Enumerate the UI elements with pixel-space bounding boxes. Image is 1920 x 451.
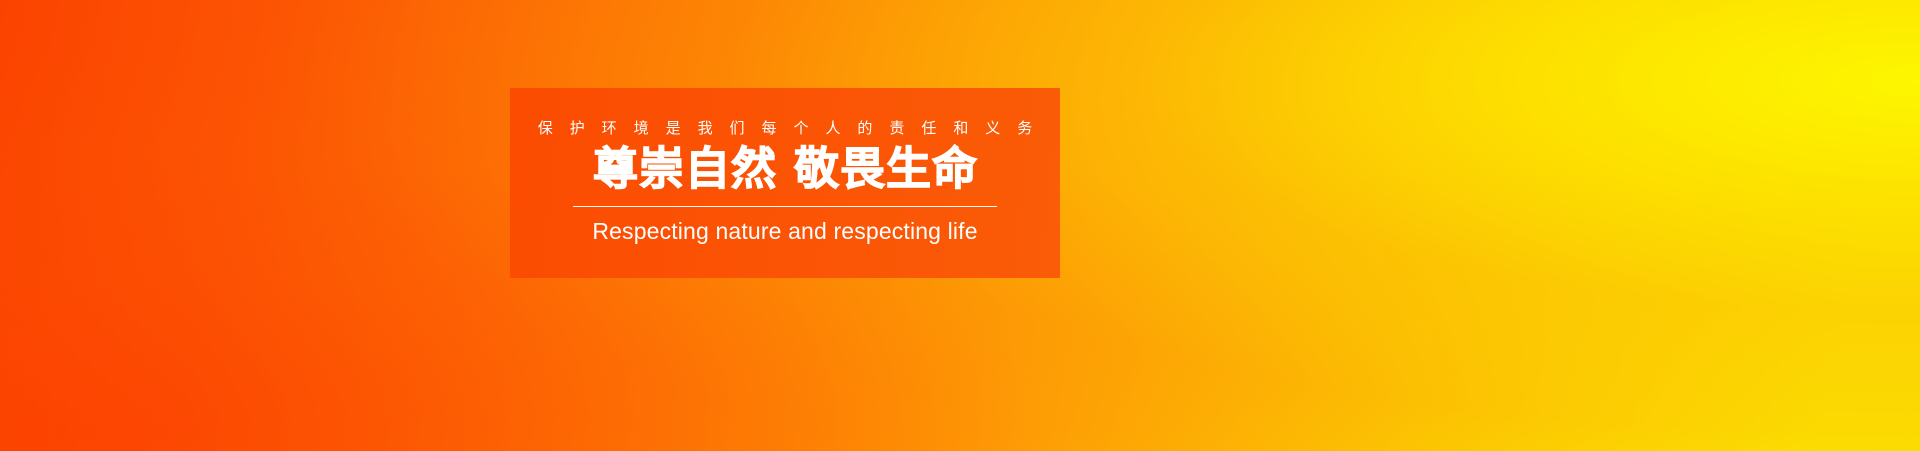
slogan-headline-second-phrase: 敬畏生命 <box>794 143 978 194</box>
slogan-headline-first-phrase: 尊崇自然 <box>593 143 777 194</box>
slogan-plaque: 保 护 环 境 是 我 们 每 个 人 的 责 任 和 义 务 尊崇自然敬畏生命… <box>510 88 1060 278</box>
environment-slogan-banner: 保 护 环 境 是 我 们 每 个 人 的 责 任 和 义 务 尊崇自然敬畏生命… <box>0 0 1920 451</box>
slogan-headline: 尊崇自然敬畏生命 <box>592 145 978 194</box>
slogan-content: 保 护 环 境 是 我 们 每 个 人 的 责 任 和 义 务 尊崇自然敬畏生命… <box>573 121 997 245</box>
slogan-eyebrow-text: 保 护 环 境 是 我 们 每 个 人 的 责 任 和 义 务 <box>531 121 1038 136</box>
slogan-divider-line <box>573 206 997 207</box>
slogan-english-subtitle: Respecting nature and respecting life <box>592 219 977 245</box>
